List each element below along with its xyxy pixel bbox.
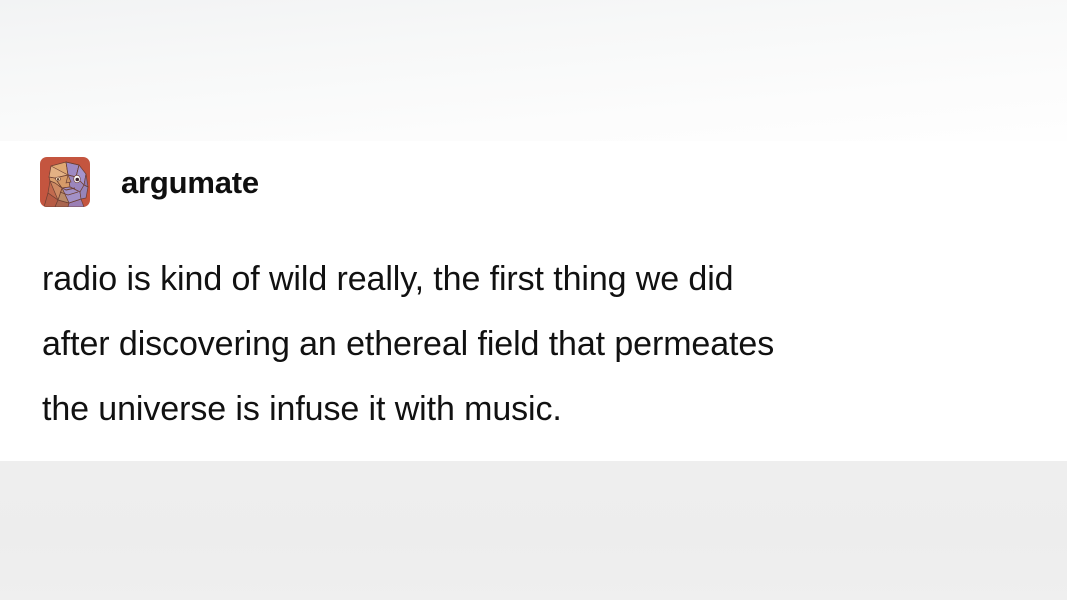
screenshot-root: argumate radio is kind of wild really, t… (0, 0, 1067, 600)
post-body-line: radio is kind of wild really, the first … (42, 247, 1032, 312)
post-body: radio is kind of wild really, the first … (42, 247, 1032, 442)
avatar[interactable] (40, 157, 90, 207)
post-author-username[interactable]: argumate (121, 167, 259, 198)
post-body-line: after discovering an ethereal field that… (42, 312, 1032, 377)
background-bottom-band (0, 461, 1067, 600)
post-body-line: the universe is infuse it with music. (42, 377, 1032, 442)
background-top-band (0, 0, 1067, 141)
post-header[interactable]: argumate (40, 157, 259, 207)
post-card: argumate radio is kind of wild really, t… (0, 141, 1067, 461)
